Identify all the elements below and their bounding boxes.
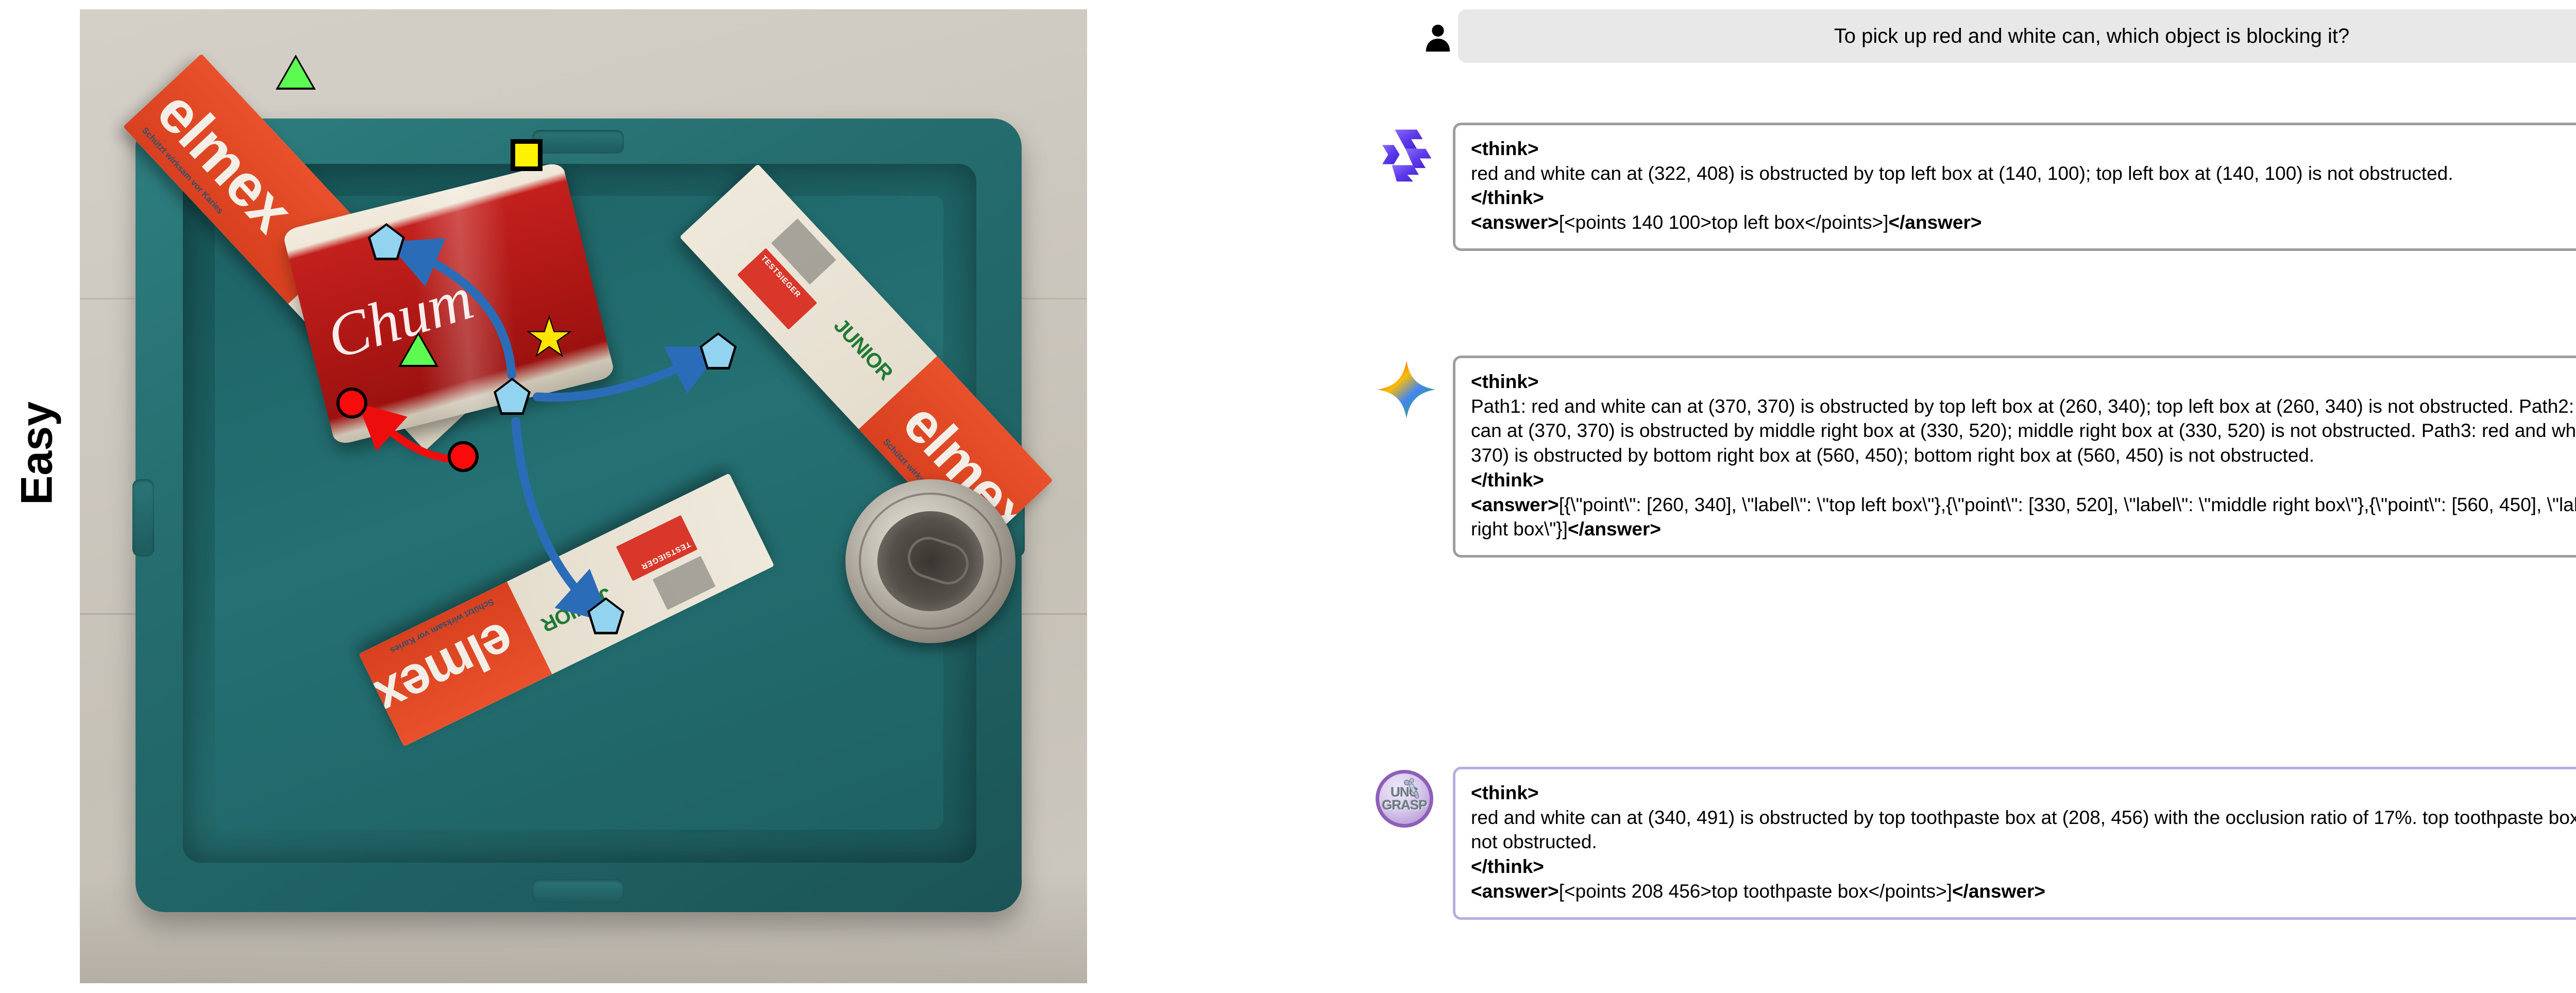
question-row: To pick up red and white can, which obje… [1458, 9, 2576, 63]
bin-handle-top [532, 130, 624, 154]
red-circle-source-marker [448, 441, 479, 472]
think-open-tag: <think> [1471, 781, 2576, 805]
green-triangle-on-can-marker [401, 335, 435, 365]
blue-pentagon-center-marker [496, 380, 528, 412]
blue-pentagon-bottom-box-marker [590, 600, 622, 632]
difficulty-label: Easy [12, 376, 63, 531]
blue-pentagon-middle-right-box-marker [702, 335, 734, 367]
scene-photo: elmex Schützt wirksam vor Karies TESTSIE… [80, 9, 1087, 983]
answer-close-tag: </answer> [1952, 881, 2045, 902]
think-close-tag: </think> [1471, 468, 2576, 493]
yellow-square-marker [511, 139, 543, 171]
junior-text: JUNIOR [829, 314, 897, 385]
think-open-tag: <think> [1471, 137, 2576, 161]
answer-open-tag: <answer> [1471, 212, 1559, 233]
yellow-star-marker [529, 318, 569, 358]
bin-handle-bottom [532, 879, 624, 903]
answer-close-tag: </answer> [1889, 212, 1982, 233]
qwen-logo-icon [1376, 126, 1436, 187]
think-body-text: red and white can at (322, 408) is obstr… [1471, 161, 2576, 186]
answer-body-text: [<points 208 456>top toothpaste box</poi… [1559, 881, 1952, 902]
bin-handle-left [132, 479, 154, 557]
question-text: To pick up red and white can, which obje… [1834, 25, 2350, 48]
answer-open-tag: <answer> [1471, 494, 1559, 515]
response-1-bubble: <think> red and white can at (322, 408) … [1453, 123, 2576, 251]
think-close-tag: </think> [1471, 186, 2576, 210]
answer-line: <answer>[<points 140 100>top left box</p… [1471, 210, 2576, 235]
answer-line: <answer>[<points 208 456>top toothpaste … [1471, 879, 2576, 904]
answer-body-text: [<points 140 100>top left box</points>] [1559, 212, 1889, 233]
answer-close-tag: </answer> [1568, 518, 1661, 540]
response-2-bubble: <think> Path1: red and white can at (370… [1453, 356, 2576, 558]
response-2: <think> Path1: red and white can at (370… [1453, 356, 2576, 558]
think-body-text: red and white can at (340, 491) is obstr… [1471, 805, 2576, 854]
red-circle-target-marker [336, 388, 367, 418]
response-3: UNC GRASP <think> red and white can at (… [1453, 767, 2576, 920]
response-3-bubble: <think> red and white can at (340, 491) … [1453, 767, 2576, 920]
green-triangle-outside-marker [279, 58, 313, 88]
robot-arm-icon [1402, 778, 1426, 801]
can-lid [845, 479, 1015, 643]
scene-panel: Easy elmex Schützt wirksam vor Karies [0, 0, 1164, 993]
question-bubble: To pick up red and white can, which obje… [1458, 9, 2576, 63]
gemini-star-icon [1376, 359, 1436, 419]
think-body-text: Path1: red and white can at (370, 370) i… [1471, 394, 2576, 468]
think-close-tag: </think> [1471, 854, 2576, 879]
blue-pentagon-top-left-box-marker [370, 226, 402, 258]
person-icon [1422, 22, 1454, 54]
response-1: <think> red and white can at (322, 408) … [1453, 123, 2576, 251]
answer-line: <answer>[{\"point\": [260, 340], \"label… [1471, 493, 2576, 542]
grasp-badge-icon: UNC GRASP [1376, 770, 1436, 831]
think-open-tag: <think> [1471, 369, 2576, 394]
conversation-panel: To pick up red and white can, which obje… [1164, 0, 2576, 993]
answer-open-tag: <answer> [1471, 881, 1559, 902]
page-root: Easy elmex Schützt wirksam vor Karies [0, 0, 2576, 993]
